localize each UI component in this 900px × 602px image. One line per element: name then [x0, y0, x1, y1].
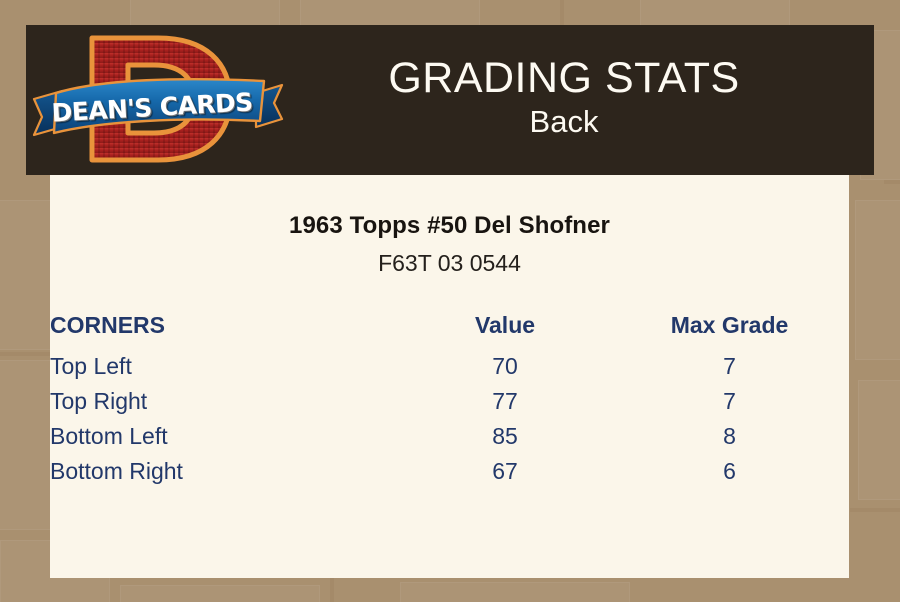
table-header-row: CORNERS Value Max Grade — [50, 308, 849, 349]
header-title-block: GRADING STATS Back — [284, 56, 874, 141]
row-label: Bottom Right — [50, 454, 400, 489]
table-row: Top Left 70 7 — [50, 349, 849, 384]
row-label: Bottom Left — [50, 419, 400, 454]
row-label: Top Right — [50, 384, 400, 419]
row-max-grade: 7 — [610, 384, 849, 419]
table-row: Bottom Right 67 6 — [50, 454, 849, 489]
row-value: 77 — [400, 384, 610, 419]
grading-stats-table: CORNERS Value Max Grade Top Left 70 7 To… — [50, 308, 849, 489]
page-title: GRADING STATS — [284, 56, 844, 102]
table-row: Bottom Left 85 8 — [50, 419, 849, 454]
row-value: 85 — [400, 419, 610, 454]
stats-panel: 1963 Topps #50 Del Shofner F63T 03 0544 … — [50, 174, 849, 578]
ribbon-banner-icon — [32, 77, 284, 139]
card-serial-number: F63T 03 0544 — [50, 250, 849, 277]
page-subtitle: Back — [284, 103, 844, 140]
row-value: 67 — [400, 454, 610, 489]
row-label: Top Left — [50, 349, 400, 384]
column-header-max-grade: Max Grade — [610, 308, 849, 349]
header-bar: DEAN'S CARDS GRADING STATS Back — [26, 25, 874, 175]
row-value: 70 — [400, 349, 610, 384]
row-max-grade: 7 — [610, 349, 849, 384]
deans-cards-logo[interactable]: DEAN'S CARDS — [26, 25, 284, 175]
column-header-value: Value — [400, 308, 610, 349]
column-header-corners: CORNERS — [50, 308, 400, 349]
card-title: 1963 Topps #50 Del Shofner — [50, 212, 849, 240]
table-row: Top Right 77 7 — [50, 384, 849, 419]
row-max-grade: 6 — [610, 454, 849, 489]
row-max-grade: 8 — [610, 419, 849, 454]
